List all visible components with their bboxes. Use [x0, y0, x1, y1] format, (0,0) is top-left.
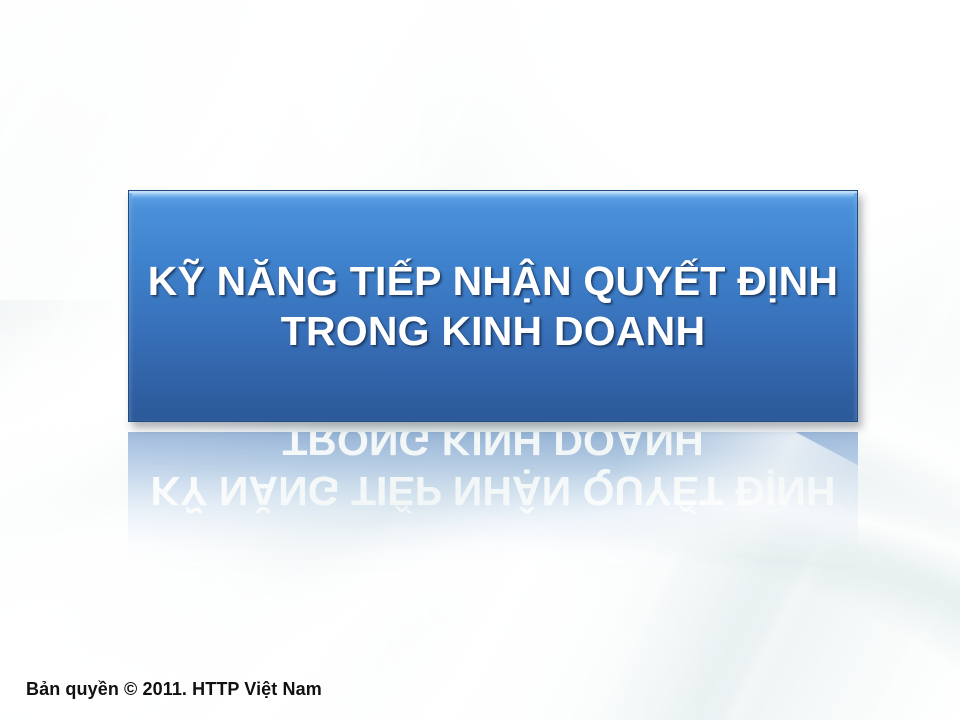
title-box-reflection: KỸ NĂNG TIẾP NHẬN QUYẾT ĐỊNH TRONG KINH … [128, 432, 858, 582]
footer-copyright: Bản quyền © 2011. HTTP Việt Nam [26, 679, 322, 700]
reflection-title-text: KỸ NĂNG TIẾP NHẬN QUYẾT ĐỊNH TRONG KINH … [128, 432, 858, 516]
title-banner: KỸ NĂNG TIẾP NHẬN QUYẾT ĐỊNH TRONG KINH … [128, 190, 858, 422]
presentation-slide: KỸ NĂNG TIẾP NHẬN QUYẾT ĐỊNH TRONG KINH … [0, 0, 960, 720]
slide-title: KỸ NĂNG TIẾP NHẬN QUYẾT ĐỊNH TRONG KINH … [129, 256, 857, 356]
reflection-surface: KỸ NĂNG TIẾP NHẬN QUYẾT ĐỊNH TRONG KINH … [128, 432, 858, 582]
